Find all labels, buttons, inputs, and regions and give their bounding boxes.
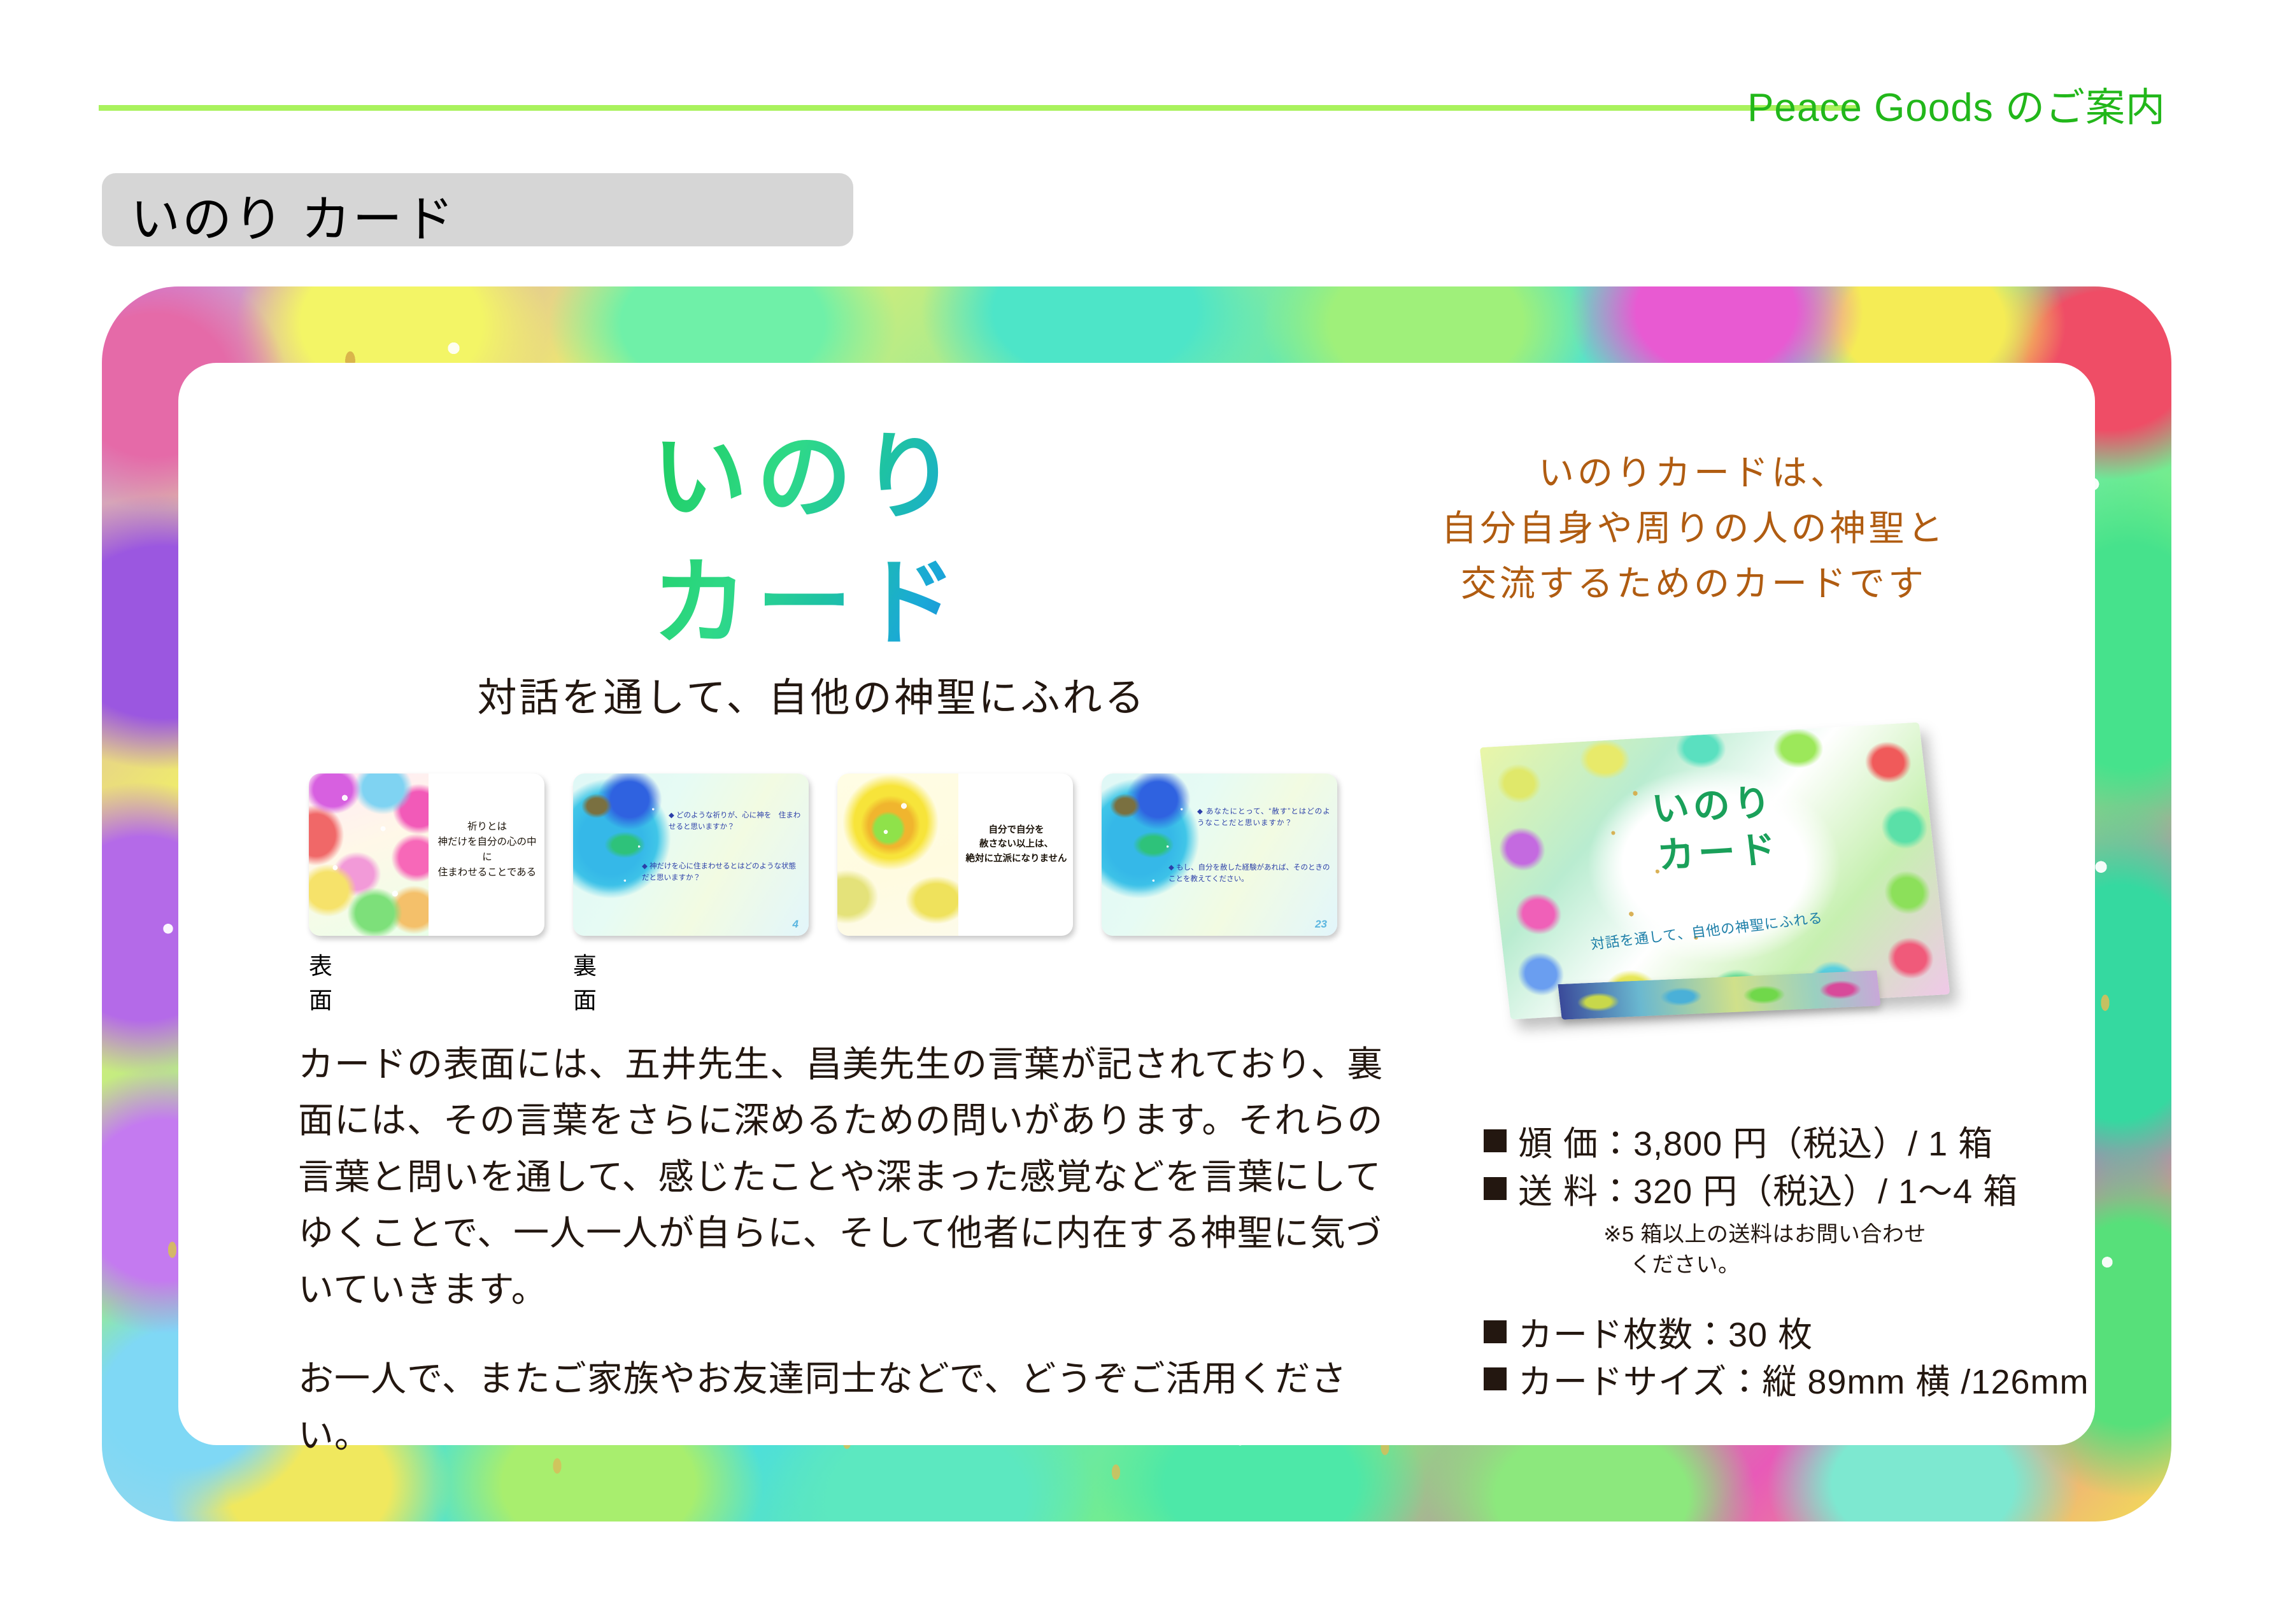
card-quote-line: 自分で自分を	[965, 823, 1068, 837]
card-quote-line: 絶対に立派になりません	[965, 852, 1068, 866]
card-caption-back: 裏面	[573, 947, 598, 1015]
spec-size-text: カードサイズ：縦 89mm 横 /126mm	[1518, 1359, 2089, 1406]
card-artwork	[573, 773, 809, 936]
card-artwork	[1102, 773, 1337, 936]
square-bullet-icon	[1484, 1367, 1507, 1390]
card-artwork	[837, 773, 958, 936]
hero-logo: いのり カード	[592, 414, 1025, 666]
header-title: Peace Goods のご案内	[1747, 75, 2166, 132]
page-title: いのり カード	[131, 180, 456, 251]
spec-note-line2: ください。	[1630, 1250, 2095, 1280]
card-question-2: ◆ 神だけを心に住まわせるとはどのような状態だと思いますか？	[642, 861, 801, 884]
card-quote-line: 祈りとは	[436, 819, 538, 835]
card-quote-line: 赦さない以上は、	[965, 837, 1068, 851]
spec-row-price: 頒 価：3,800 円（税込）/ 1 箱	[1484, 1120, 2095, 1168]
sample-card-back-2: ◆ あなたにとって、“赦す”とはどのようなことだと思いますか？ ◆ もし、自分を…	[1102, 773, 1337, 936]
card-question-2: ◆ もし、自分を赦した経験があれば、そのときのことを教えてください。	[1168, 863, 1331, 886]
lead-copy-line2: 自分自身や周りの人の神聖と	[1395, 501, 1993, 556]
spec-count-text: カード枚数：30 枚	[1518, 1311, 1813, 1359]
spec-list: 頒 価：3,800 円（税込）/ 1 箱 送 料：320 円（税込）/ 1〜4 …	[1484, 1120, 2095, 1406]
body-copy: カードの表面には、五井先生、昌美先生の言葉が記されており、裏面には、その言葉をさ…	[298, 1036, 1393, 1464]
card-question-1: ◆ どのような祈りが、心に神を 住まわせると思いますか？	[669, 810, 801, 833]
square-bullet-icon	[1484, 1177, 1507, 1200]
hero-tagline: 対話を通して、自他の神聖にふれる	[446, 665, 1178, 723]
card-artwork	[309, 773, 429, 936]
card-quote-line: 神だけを自分の心の中に	[436, 835, 538, 865]
lead-copy: いのりカードは、 自分自身や周りの人の神聖と 交流するためのカードです	[1395, 446, 1993, 611]
lead-copy-line3: 交流するためのカードです	[1395, 556, 1993, 612]
card-quote: 自分で自分を 赦さない以上は、 絶対に立派になりません	[965, 823, 1068, 866]
square-bullet-icon	[1484, 1320, 1507, 1343]
spec-spacer	[1484, 1281, 2095, 1311]
card-caption-front: 表面	[309, 947, 334, 1015]
sample-card-front-2: 自分で自分を 赦さない以上は、 絶対に立派になりません	[837, 773, 1073, 936]
spec-shipping-text: 送 料：320 円（税込）/ 1〜4 箱	[1518, 1168, 2018, 1216]
brochure-page: Peace Goods のご案内 いのり カード いのり カード 対話を通して、…	[0, 0, 2279, 1624]
lead-copy-line1: いのりカードは、	[1395, 446, 1993, 501]
sample-card-back-1: ◆ どのような祈りが、心に神を 住まわせると思いますか？ ◆ 神だけを心に住まわ…	[573, 773, 809, 936]
card-quote-line: 住まわせることである	[436, 865, 538, 880]
body-paragraph-1: カードの表面には、五井先生、昌美先生の言葉が記されており、裏面には、その言葉をさ…	[298, 1036, 1393, 1318]
sample-card-front-1: 祈りとは 神だけを自分の心の中に 住まわせることである	[309, 773, 544, 936]
spec-price-text: 頒 価：3,800 円（税込）/ 1 箱	[1518, 1120, 1993, 1168]
hero-logo-line2: カード	[592, 540, 1025, 666]
card-page-number: 4	[793, 918, 799, 931]
header-divider-rule	[99, 105, 1856, 111]
spec-row-shipping: 送 料：320 円（税込）/ 1〜4 箱	[1484, 1168, 2095, 1216]
spec-row-count: カード枚数：30 枚	[1484, 1311, 2095, 1359]
card-question-1: ◆ あなたにとって、“赦す”とはどのようなことだと思いますか？	[1197, 807, 1331, 830]
card-page-number: 23	[1315, 918, 1327, 931]
spec-shipping-note: ※5 箱以上の送料はお問い合わせ ください。	[1603, 1219, 2095, 1281]
body-paragraph-2: お一人で、またご家族やお友達同士などで、どうぞご活用ください。	[298, 1351, 1393, 1464]
spec-row-size: カードサイズ：縦 89mm 横 /126mm	[1484, 1359, 2095, 1406]
square-bullet-icon	[1484, 1129, 1507, 1152]
spec-note-line1: ※5 箱以上の送料はお問い合わせ	[1603, 1222, 1926, 1246]
card-quote: 祈りとは 神だけを自分の心の中に 住まわせることである	[436, 819, 538, 880]
hero-logo-line1: いのり	[592, 414, 1025, 540]
product-box-photo: いのり カード 対話を通して、自他の神聖にふれる	[1484, 729, 1949, 1028]
